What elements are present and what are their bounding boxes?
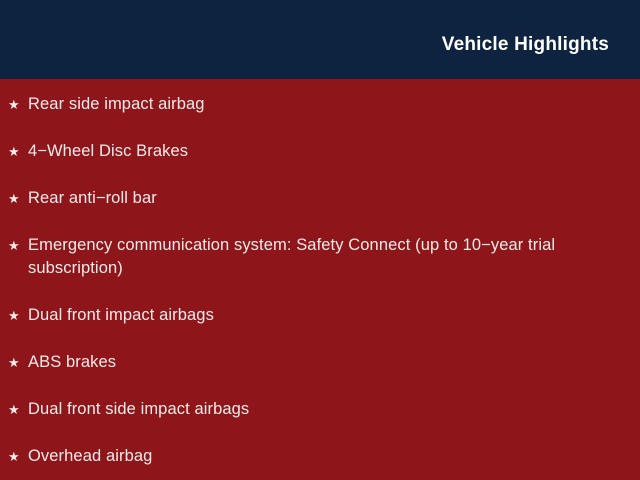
star-bullet-icon: ★ xyxy=(8,93,28,116)
star-bullet-icon: ★ xyxy=(8,304,28,327)
list-item-label: Dual front impact airbags xyxy=(28,304,603,327)
list-item: ★ ABS brakes xyxy=(8,351,614,374)
list-item-label: Overhead airbag xyxy=(28,445,603,468)
vehicle-highlights-list: ★ Rear side impact airbag ★ 4−Wheel Disc… xyxy=(8,93,614,468)
star-bullet-icon: ★ xyxy=(8,398,28,421)
list-item: ★ Rear anti−roll bar xyxy=(8,187,614,210)
list-item: ★ Dual front side impact airbags xyxy=(8,398,614,421)
list-item-label: ABS brakes xyxy=(28,351,603,374)
list-item: ★ Dual front impact airbags xyxy=(8,304,614,327)
star-bullet-icon: ★ xyxy=(8,445,28,468)
star-bullet-icon: ★ xyxy=(8,234,28,257)
list-item-label: 4−Wheel Disc Brakes xyxy=(28,140,603,163)
list-item-label: Emergency communication system: Safety C… xyxy=(28,234,603,280)
list-item-label: Rear side impact airbag xyxy=(28,93,603,116)
page-title: Vehicle Highlights xyxy=(442,35,609,54)
star-bullet-icon: ★ xyxy=(8,140,28,163)
list-item: ★ Overhead airbag xyxy=(8,445,614,468)
list-item: ★ 4−Wheel Disc Brakes xyxy=(8,140,614,163)
vehicle-highlights-slide: Vehicle Highlights ★ Rear side impact ai… xyxy=(0,0,640,480)
star-bullet-icon: ★ xyxy=(8,351,28,374)
list-item: ★ Emergency communication system: Safety… xyxy=(8,234,614,280)
list-item-label: Dual front side impact airbags xyxy=(28,398,603,421)
list-item: ★ Rear side impact airbag xyxy=(8,93,614,116)
star-bullet-icon: ★ xyxy=(8,187,28,210)
list-item-label: Rear anti−roll bar xyxy=(28,187,603,210)
slide-body: ★ Rear side impact airbag ★ 4−Wheel Disc… xyxy=(0,79,640,480)
slide-header: Vehicle Highlights xyxy=(0,0,640,79)
